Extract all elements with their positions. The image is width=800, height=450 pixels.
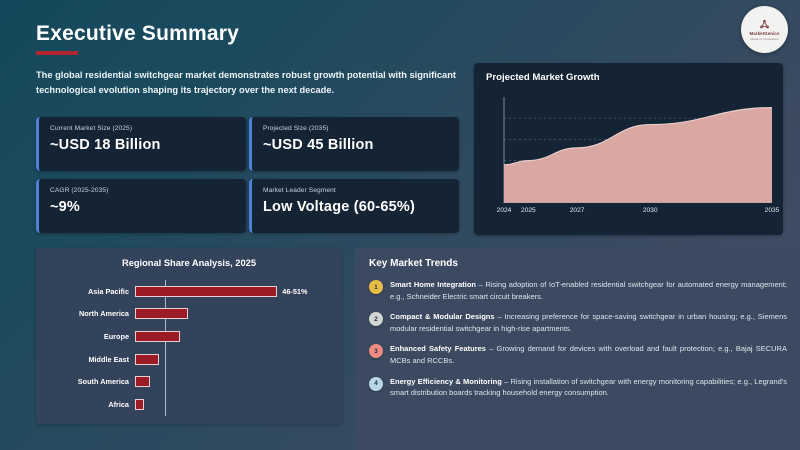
kpi-card: Market Leader Segment Low Voltage (60-65… (249, 179, 459, 233)
kpi-card: Projected Size (2035) ~USD 45 Billion (249, 117, 459, 171)
bar-chart-row: North America (36, 303, 342, 326)
bar-fill (135, 399, 144, 410)
bar-category-label: Africa (36, 400, 135, 409)
bar-track (135, 348, 342, 371)
bar-fill (135, 308, 188, 319)
page-title: Executive Summary (36, 22, 239, 46)
bar-chart-rows: Asia Pacific46-51%North AmericaEuropeMid… (36, 280, 342, 416)
trend-heading: Enhanced Safety Features (390, 344, 486, 353)
bar-fill (135, 331, 180, 342)
company-logo: MarketGenics Ideas to Innovation (741, 6, 788, 53)
trend-item: 3Enhanced Safety Features – Growing dema… (369, 343, 787, 366)
bar-fill (135, 376, 150, 387)
regional-share-chart-panel: Regional Share Analysis, 2025 Asia Pacif… (36, 248, 342, 424)
bar-track (135, 370, 342, 393)
bar-category-label: South America (36, 377, 135, 386)
trend-heading: Energy Efficiency & Monitoring (390, 377, 502, 386)
bar-track: 46-51% (135, 280, 342, 303)
kpi-label: Current Market Size (2025) (50, 125, 132, 132)
x-axis-tick-label: 2035 (765, 207, 780, 214)
x-axis-tick-label: 2025 (521, 207, 536, 214)
trend-text: Compact & Modular Designs – Increasing p… (390, 311, 787, 334)
slide-canvas: Executive Summary The global residential… (0, 0, 800, 450)
x-axis-tick-label: 2027 (570, 207, 585, 214)
bar-category-label: Middle East (36, 355, 135, 364)
trends-list: 1Smart Home Integration – Rising adoptio… (369, 279, 787, 408)
trend-text: Enhanced Safety Features – Growing deman… (390, 343, 787, 366)
bar-category-label: North America (36, 309, 135, 318)
trend-number-badge: 3 (369, 344, 383, 358)
projected-growth-chart-panel: Projected Market Growth 2024202520272030… (474, 63, 783, 235)
area-chart-x-axis: 20242025202720302035 (486, 207, 772, 221)
bar-fill (135, 354, 159, 365)
bar-track (135, 393, 342, 416)
kpi-value: Low Voltage (60-65%) (263, 199, 415, 215)
kpi-label: CAGR (2025-2035) (50, 187, 108, 194)
bar-category-label: Asia Pacific (36, 287, 135, 296)
kpi-label: Market Leader Segment (263, 187, 336, 194)
kpi-value: ~USD 45 Billion (263, 137, 374, 153)
x-axis-tick-label: 2030 (643, 207, 658, 214)
kpi-card: Current Market Size (2025) ~USD 18 Billi… (36, 117, 246, 171)
trend-number-badge: 2 (369, 312, 383, 326)
bar-fill (135, 286, 277, 297)
trend-item: 1Smart Home Integration – Rising adoptio… (369, 279, 787, 302)
trend-number-badge: 1 (369, 280, 383, 294)
bar-chart-row: Middle East (36, 348, 342, 371)
bar-category-label: Europe (36, 332, 135, 341)
bar-chart-row: South America (36, 370, 342, 393)
kpi-value: ~9% (50, 199, 80, 215)
bar-chart-row: Europe (36, 325, 342, 348)
chart-title: Projected Market Growth (486, 72, 600, 83)
trend-item: 2Compact & Modular Designs – Increasing … (369, 311, 787, 334)
trend-item: 4Energy Efficiency & Monitoring – Rising… (369, 376, 787, 399)
trend-heading: Smart Home Integration (390, 280, 476, 289)
x-axis-tick-label: 2024 (497, 207, 512, 214)
bar-chart-row: Africa (36, 393, 342, 416)
kpi-label: Projected Size (2035) (263, 125, 329, 132)
area-chart-plot (486, 93, 772, 203)
key-market-trends-panel: Key Market Trends 1Smart Home Integratio… (355, 248, 800, 450)
trend-text: Energy Efficiency & Monitoring – Rising … (390, 376, 787, 399)
bar-track (135, 303, 342, 326)
network-nodes-icon (758, 18, 771, 32)
kpi-value: ~USD 18 Billion (50, 137, 161, 153)
kpi-card: CAGR (2025-2035) ~9% (36, 179, 246, 233)
trends-title: Key Market Trends (369, 258, 458, 269)
bar-chart-row: Asia Pacific46-51% (36, 280, 342, 303)
logo-name: MarketGenics (750, 32, 780, 36)
logo-tagline: Ideas to Innovation (750, 37, 778, 41)
page-subtitle: The global residential switchgear market… (36, 68, 456, 98)
bar-chart-title: Regional Share Analysis, 2025 (36, 258, 342, 268)
title-accent-rule (36, 51, 78, 55)
bar-track (135, 325, 342, 348)
trend-text: Smart Home Integration – Rising adoption… (390, 279, 787, 302)
trend-number-badge: 4 (369, 377, 383, 391)
trend-heading: Compact & Modular Designs (390, 312, 495, 321)
bar-value-label: 46-51% (282, 287, 307, 296)
